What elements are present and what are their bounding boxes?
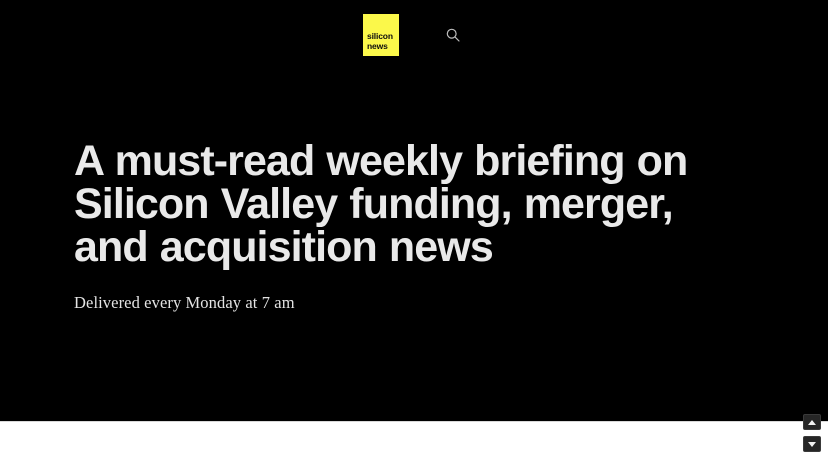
header-inner: silicon news: [363, 14, 465, 56]
triangle-down-icon: [808, 442, 816, 447]
page-subtitle: Delivered every Monday at 7 am: [74, 293, 714, 313]
logo-line-2: news: [367, 42, 388, 52]
site-logo[interactable]: silicon news: [363, 14, 399, 56]
hero-section: silicon news A must-read weekly briefing…: [0, 0, 828, 421]
search-icon: [445, 27, 461, 43]
triangle-up-icon: [808, 420, 816, 425]
below-fold-section: [0, 421, 828, 466]
hero-copy: A must-read weekly briefing on Silicon V…: [74, 140, 714, 313]
scroll-down-button[interactable]: [803, 436, 821, 452]
search-button[interactable]: [441, 23, 465, 47]
scroll-controls: [803, 414, 821, 452]
scroll-up-button[interactable]: [803, 414, 821, 430]
site-header: silicon news: [0, 0, 828, 78]
page-title: A must-read weekly briefing on Silicon V…: [74, 140, 714, 269]
